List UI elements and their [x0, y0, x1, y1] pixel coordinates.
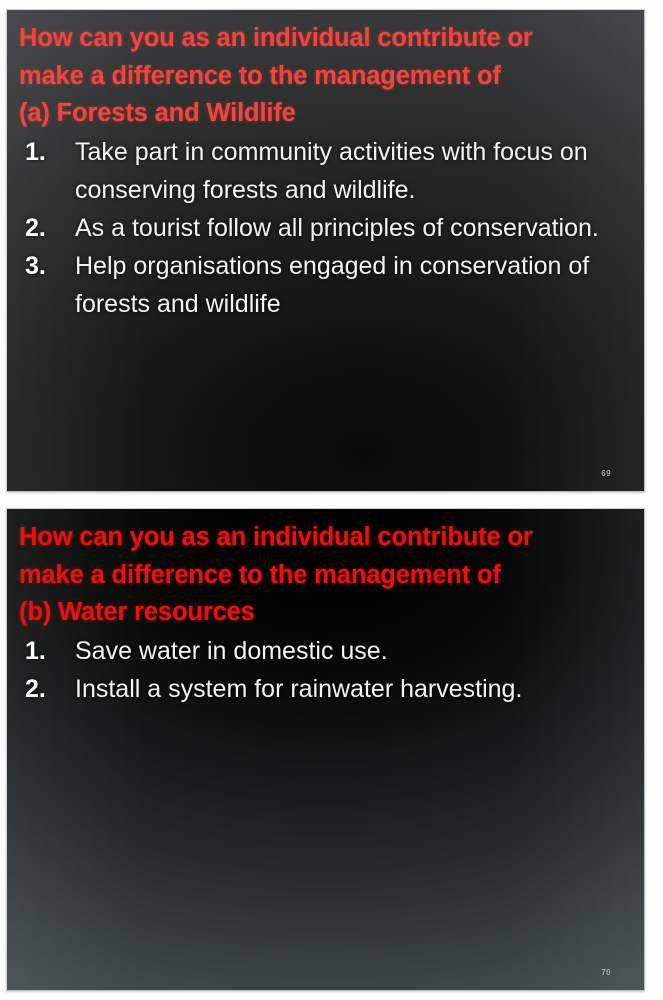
list-item-number: 2.	[25, 670, 46, 708]
list-item-text: Take part in community activities with f…	[75, 133, 634, 209]
page-number: 70	[601, 968, 611, 977]
list-item-number: 1.	[25, 632, 46, 670]
slide-title: How can you as an individual contribute …	[19, 20, 634, 133]
numbered-point-list: 1. Take part in community activities wit…	[19, 133, 634, 323]
slide-content: How can you as an individual contribute …	[19, 519, 634, 708]
list-item-text: Install a system for rainwater harvestin…	[75, 670, 634, 708]
page-number: 69	[601, 469, 611, 478]
title-line-1: How can you as an individual contribute …	[19, 20, 634, 58]
title-line-3-subtitle: (a) Forests and Wildlife	[19, 95, 634, 133]
list-item: 2. Install a system for rainwater harves…	[19, 670, 634, 708]
list-item: 3. Help organisations engaged in conserv…	[19, 247, 634, 323]
title-line-3-subtitle: (b) Water resources	[19, 594, 634, 632]
slide-water-resources[interactable]: How can you as an individual contribute …	[6, 508, 645, 991]
slide-title: How can you as an individual contribute …	[19, 519, 634, 632]
list-item: 2. As a tourist follow all principles of…	[19, 209, 634, 247]
list-item: 1. Take part in community activities wit…	[19, 133, 634, 209]
list-item-text: As a tourist follow all principles of co…	[75, 209, 634, 247]
list-item-text: Save water in domestic use.	[75, 632, 634, 670]
title-line-1: How can you as an individual contribute …	[19, 519, 634, 557]
list-item-number: 1.	[25, 133, 46, 171]
list-item-number: 3.	[25, 247, 46, 285]
slide-forests-and-wildlife[interactable]: How can you as an individual contribute …	[6, 9, 645, 492]
list-item: 1. Save water in domestic use.	[19, 632, 634, 670]
slide-content: How can you as an individual contribute …	[19, 20, 634, 323]
title-line-2: make a difference to the management of	[19, 58, 634, 96]
list-item-text: Help organisations engaged in conservati…	[75, 247, 634, 323]
slide-deck: How can you as an individual contribute …	[0, 0, 663, 1000]
title-line-2: make a difference to the management of	[19, 557, 634, 595]
numbered-point-list: 1. Save water in domestic use. 2. Instal…	[19, 632, 634, 708]
list-item-number: 2.	[25, 209, 46, 247]
